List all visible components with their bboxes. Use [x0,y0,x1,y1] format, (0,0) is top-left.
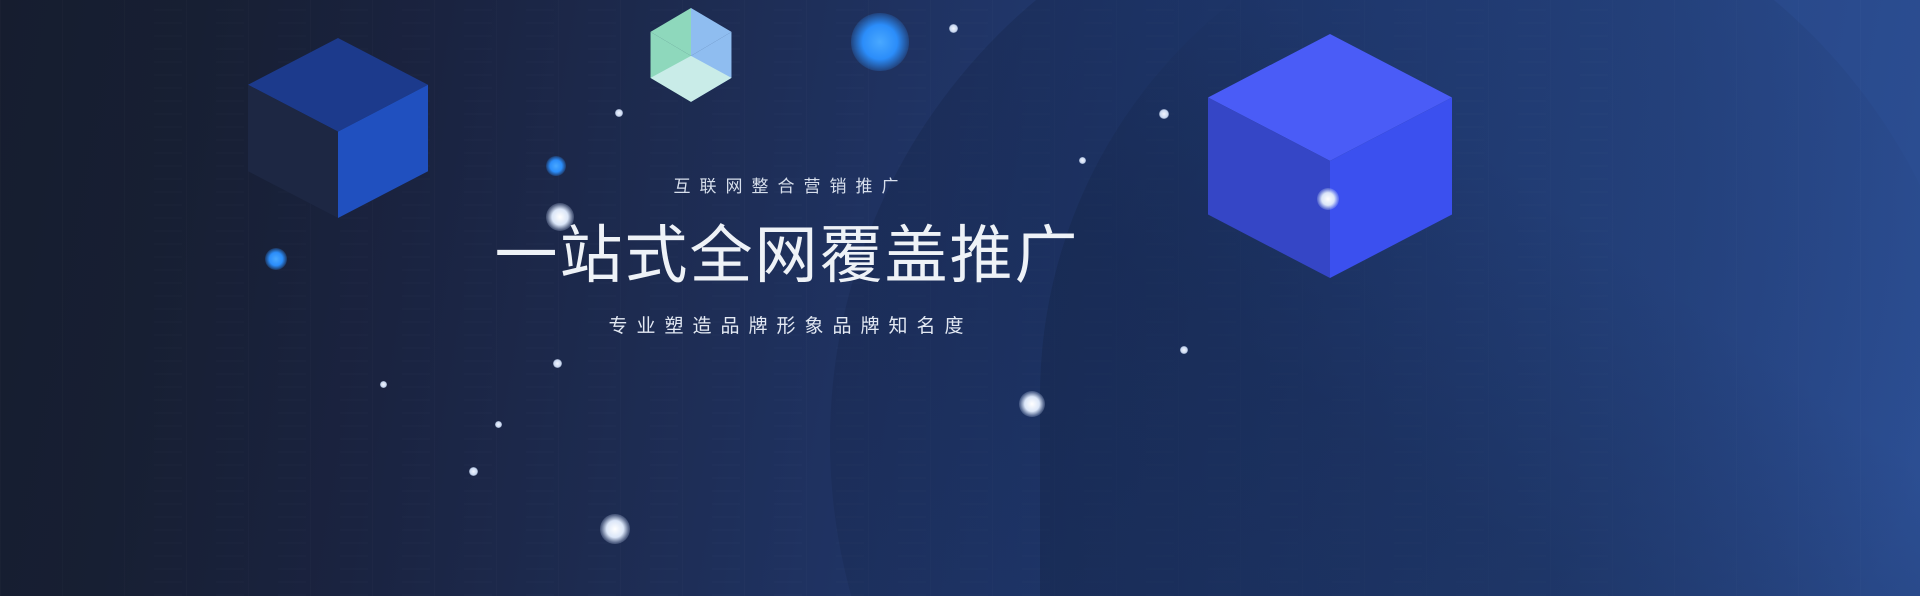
particle-dot [949,24,958,33]
particle-dot [469,467,478,476]
particle-dot [546,203,575,232]
particle-dot [615,109,623,117]
corner-diagonal-sweep [1040,0,1920,596]
particle-dot [265,248,287,270]
particle-dot [380,381,387,388]
promo-banner: 互联网整合营销推广 一站式全网覆盖推广 专业塑造品牌形象品牌知名度 [0,0,1920,596]
particle-dot [553,359,562,368]
banner-headline: 一站式全网覆盖推广 [493,225,1080,288]
particle-dot [1159,109,1169,119]
particle-dot [546,156,566,176]
cube-icon-small [645,0,737,110]
cube-icon-left [248,38,428,218]
particle-dot [600,514,631,545]
cube-icon-right [1208,33,1452,279]
particle-dot [1180,346,1188,354]
particle-dot [851,13,908,70]
banner-eyebrow: 互联网整合营销推广 [493,178,1080,195]
particle-dot [495,421,502,428]
banner-subline: 专业塑造品牌形象品牌知名度 [493,317,1080,336]
particle-dot [1019,391,1045,417]
particle-dot [1079,157,1086,164]
